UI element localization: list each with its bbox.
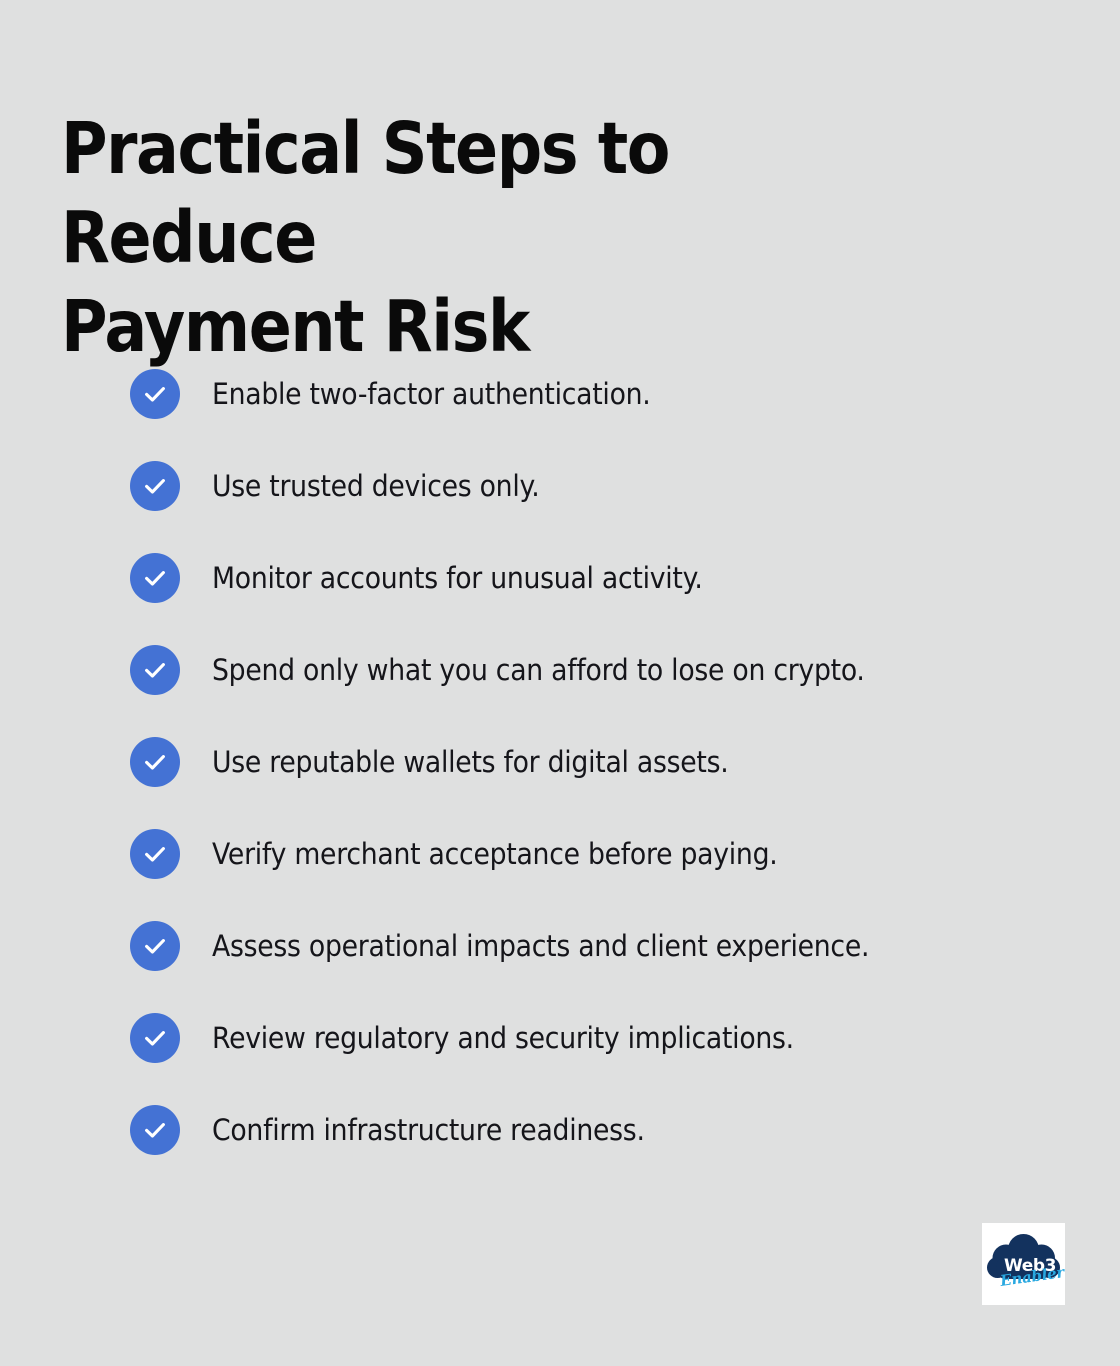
practical-steps-checklist: Enable two-factor authentication. Use tr…	[130, 369, 1080, 1155]
list-item: Use reputable wallets for digital assets…	[130, 737, 1080, 787]
page-title: Practical Steps to Reduce Payment Risk	[61, 104, 831, 371]
check-circle-icon	[130, 645, 180, 695]
list-item-label: Monitor accounts for unusual activity.	[212, 561, 703, 595]
list-item-label: Confirm infrastructure readiness.	[212, 1113, 645, 1147]
list-item-label: Use trusted devices only.	[212, 469, 539, 503]
list-item: Enable two-factor authentication.	[130, 369, 1080, 419]
list-item: Confirm infrastructure readiness.	[130, 1105, 1080, 1155]
list-item-label: Use reputable wallets for digital assets…	[212, 745, 728, 779]
check-circle-icon	[130, 921, 180, 971]
list-item-label: Assess operational impacts and client ex…	[212, 929, 869, 963]
check-circle-icon	[130, 553, 180, 603]
list-item-label: Enable two-factor authentication.	[212, 377, 651, 411]
list-item-label: Verify merchant acceptance before paying…	[212, 837, 777, 871]
check-circle-icon	[130, 1013, 180, 1063]
list-item-label: Review regulatory and security implicati…	[212, 1021, 794, 1055]
brand-logo: Web3 Enabler	[982, 1223, 1065, 1305]
list-item: Use trusted devices only.	[130, 461, 1080, 511]
check-circle-icon	[130, 737, 180, 787]
list-item: Assess operational impacts and client ex…	[130, 921, 1080, 971]
list-item: Review regulatory and security implicati…	[130, 1013, 1080, 1063]
list-item-label: Spend only what you can afford to lose o…	[212, 653, 865, 687]
list-item: Spend only what you can afford to lose o…	[130, 645, 1080, 695]
check-circle-icon	[130, 369, 180, 419]
check-circle-icon	[130, 829, 180, 879]
poster-canvas: Practical Steps to Reduce Payment Risk E…	[0, 0, 1120, 1366]
list-item: Monitor accounts for unusual activity.	[130, 553, 1080, 603]
list-item: Verify merchant acceptance before paying…	[130, 829, 1080, 879]
check-circle-icon	[130, 461, 180, 511]
check-circle-icon	[130, 1105, 180, 1155]
